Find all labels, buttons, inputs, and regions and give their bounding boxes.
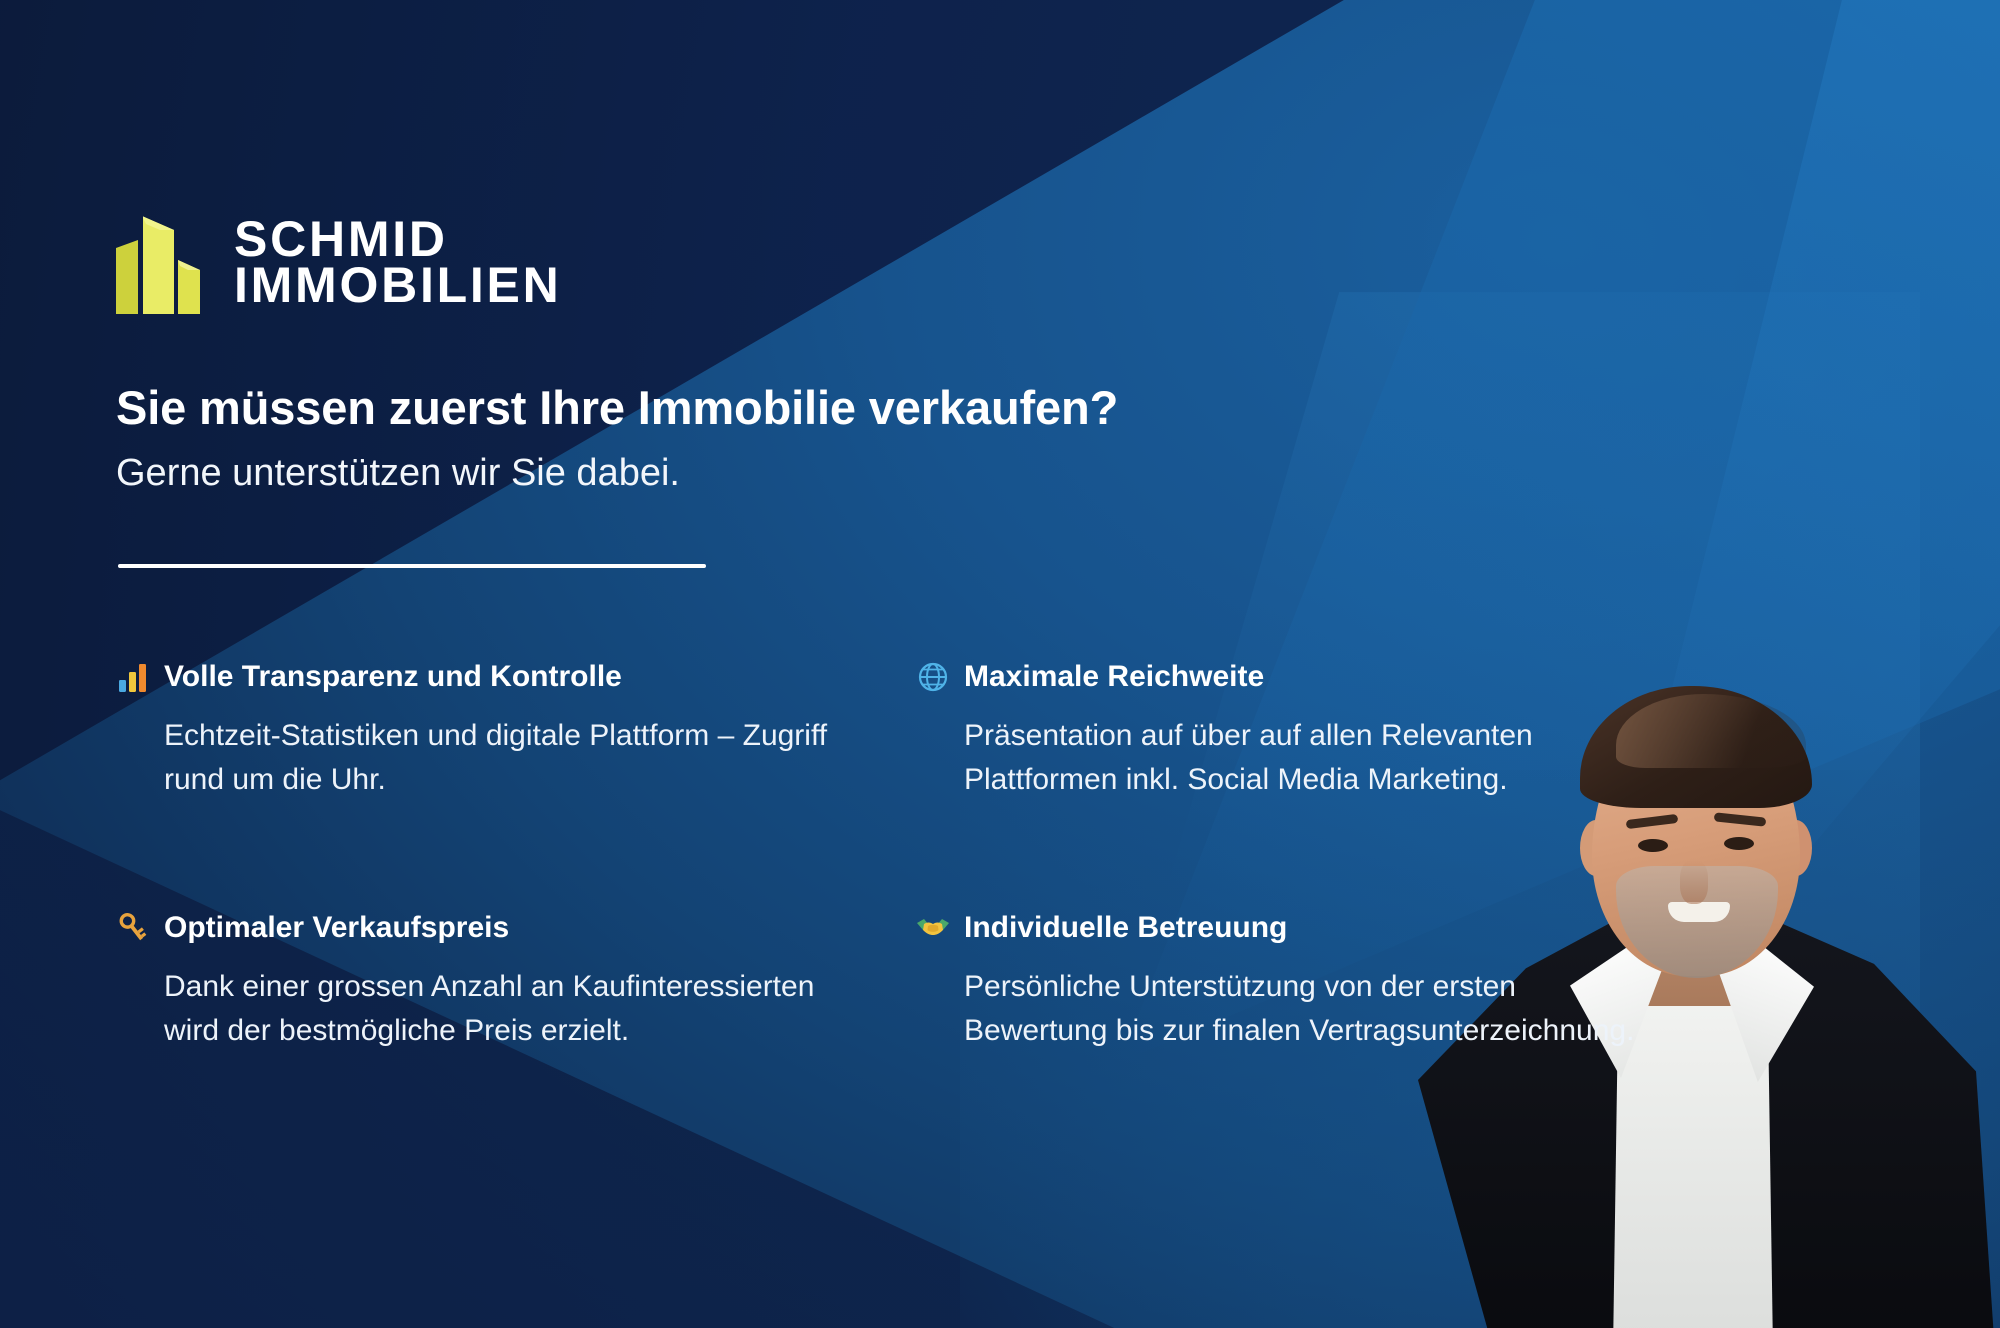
feature-title: Volle Transparenz und Kontrolle <box>164 660 622 694</box>
brand-name-line-1: SCHMID <box>234 216 561 262</box>
feature-title: Optimaler Verkaufspreis <box>164 911 509 945</box>
handshake-icon <box>916 911 950 945</box>
feature-item-transparenz: Volle Transparenz und Kontrolle Echtzeit… <box>116 660 876 803</box>
key-icon <box>116 911 150 945</box>
bar-chart-icon <box>116 660 150 694</box>
feature-description: Präsentation auf über auf allen Relevant… <box>916 714 1656 803</box>
feature-header: Optimaler Verkaufspreis <box>116 911 876 945</box>
feature-header: Volle Transparenz und Kontrolle <box>116 660 876 694</box>
marketing-banner: SCHMID IMMOBILIEN Sie müssen zuerst Ihre… <box>0 0 2000 1328</box>
feature-description: Persönliche Unterstützung von der ersten… <box>916 965 1656 1054</box>
section-divider <box>118 564 706 568</box>
brand-name-line-2: IMMOBILIEN <box>234 262 561 308</box>
subheadline: Gerne unterstützen wir Sie dabei. <box>116 452 680 495</box>
feature-item-reichweite: Maximale Reichweite Präsentation auf übe… <box>916 660 1676 803</box>
banner-content: SCHMID IMMOBILIEN Sie müssen zuerst Ihre… <box>116 0 1876 1328</box>
feature-description: Echtzeit-Statistiken und digitale Plattf… <box>116 714 856 803</box>
feature-title: Maximale Reichweite <box>964 660 1264 694</box>
feature-item-betreuung: Individuelle Betreuung Persönliche Unter… <box>916 911 1676 1054</box>
feature-title: Individuelle Betreuung <box>964 911 1287 945</box>
globe-icon <box>916 660 950 694</box>
brand-wordmark: SCHMID IMMOBILIEN <box>234 216 561 308</box>
feature-header: Maximale Reichweite <box>916 660 1676 694</box>
building-blocks-icon <box>116 208 208 316</box>
headline: Sie müssen zuerst Ihre Immobilie verkauf… <box>116 380 1118 435</box>
feature-grid: Volle Transparenz und Kontrolle Echtzeit… <box>116 660 1676 1054</box>
feature-description: Dank einer grossen Anzahl an Kaufinteres… <box>116 965 856 1054</box>
brand-logo[interactable]: SCHMID IMMOBILIEN <box>116 208 561 316</box>
feature-header: Individuelle Betreuung <box>916 911 1676 945</box>
feature-item-verkaufspreis: Optimaler Verkaufspreis Dank einer gross… <box>116 911 876 1054</box>
